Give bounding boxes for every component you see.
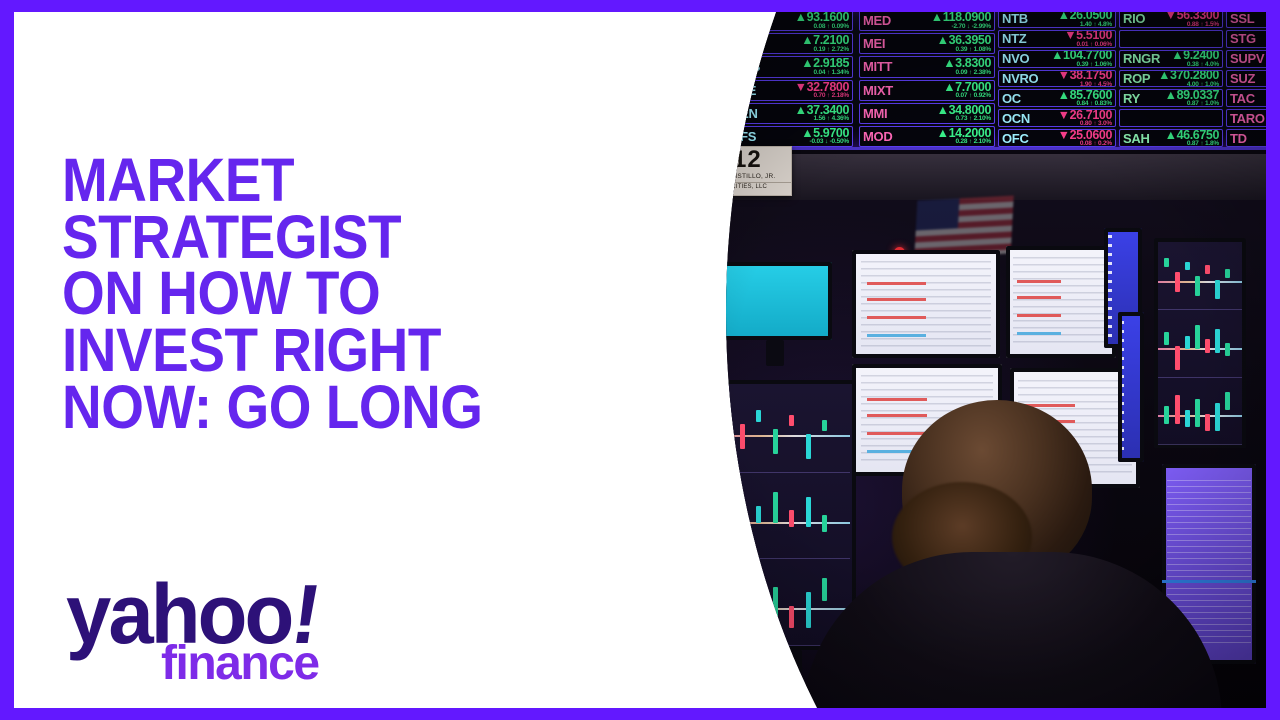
logo-finance-wordmark: finance (161, 640, 319, 688)
candlestick (773, 492, 778, 523)
ticker-price: ▲370.2800 (1158, 70, 1219, 82)
ticker-row: SUPV▼1.8 (1226, 50, 1266, 68)
ticker-symbol: KEN (731, 106, 758, 121)
ticker-column: SSL▲12STG▼4.1SUPV▼1.8SUZ▲9.0TAC▲7.85TARO… (1226, 12, 1266, 147)
ticker-symbol: NVRO (1002, 71, 1038, 86)
ticker-row: MMI▲34.80000.73 ↑ 2.10% (859, 103, 995, 124)
ticker-price-block: ▲46.67500.87 ↑ 1.8% (1165, 129, 1219, 147)
candlestick (822, 578, 827, 601)
candlestick (1185, 410, 1190, 428)
ticker-price-block: ▲7.21000.19 ↑ 2.72% (801, 34, 849, 53)
candlestick (1164, 406, 1169, 424)
chart-pane (712, 477, 850, 559)
ticker-symbol: TD (1230, 131, 1247, 146)
chart-pane (1158, 381, 1243, 445)
placard-number: 1012 (704, 148, 761, 172)
ticker-change: 0.07 ↑ 0.92% (955, 93, 991, 100)
stock-ticker-board: ▲0▲6.61501.91 ↑ 1.67%▼12.78500.68 ↑ 5.23… (606, 12, 1266, 150)
ticker-row: SUZ▲9.0 (1226, 70, 1266, 88)
ticker-row: KEN▲37.34001.56 ↑ 4.36% (727, 103, 853, 124)
ticker-change: 0.88 ↑ 1.5% (1187, 22, 1219, 28)
ticker-row (1119, 30, 1223, 48)
ticker-change: 0.80 ↑ 3.0% (1080, 121, 1112, 127)
monitor-center-right (1006, 246, 1116, 358)
candlestick (1225, 343, 1230, 356)
ceiling-panel (606, 154, 1266, 200)
ticker-price-block: ▲89.03370.87 ↑ 1.0% (1165, 89, 1219, 107)
candlestick (740, 582, 745, 618)
ticker-change: 0.28 ↑ 2.10% (955, 139, 991, 146)
ticker-symbol: NTZ (1002, 31, 1026, 46)
ticker-change: 0.08 ↑ 0.09% (813, 24, 849, 31)
ticker-row: MITT▲3.83000.09 ↑ 2.38% (859, 56, 995, 77)
ticker-change: 1.91 ↑ 1.67% (684, 47, 720, 54)
ticker-row: RNGR▲9.24000.38 ↑ 4.0% (1119, 50, 1223, 68)
candlestick (789, 415, 794, 426)
ticker-price: ▲6.6150 (672, 34, 720, 47)
ticker-row: MOD▲14.20000.28 ↑ 2.10% (859, 126, 995, 147)
ticker-row: NVRO▼38.17501.90 ↑ 4.5% (998, 70, 1116, 88)
ticker-symbol: MED (863, 13, 891, 28)
ticker-row (1119, 109, 1223, 127)
ticker-row: TD▼61.40 (1226, 129, 1266, 147)
video-thumbnail: MARKET STRATEGIST ON HOW TO INVEST RIGHT… (0, 0, 1280, 720)
ticker-price-block: ▼56.33000.88 ↑ 1.5% (1165, 12, 1219, 28)
ticker-price: ▲11.1700 (666, 81, 720, 94)
ticker-row: ▲0 (606, 12, 724, 31)
price-line (712, 522, 850, 524)
candlestick (789, 510, 794, 527)
ticker-price-block: ▲93.16000.08 ↑ 0.09% (795, 12, 849, 30)
ticker-price: ▼5.5100 (1064, 30, 1112, 42)
ticker-price-block: ▲104.77000.39 ↑ 1.06% (1051, 50, 1112, 68)
ticker-symbol: TARO (1230, 111, 1265, 126)
ticker-price: ▲93.1600 (795, 12, 849, 24)
ticker-change: 0.87 ↑ 1.8% (1187, 141, 1219, 147)
ticker-change: 0.38 ↑ 4.0% (1187, 62, 1219, 68)
ticker-row: NVO▲104.77000.39 ↑ 1.06% (998, 50, 1116, 68)
ticker-change: 0.04 ↑ 1.34% (813, 70, 849, 77)
hero-photo: ▲0▲6.61501.91 ↑ 1.67%▼12.78500.68 ↑ 5.23… (606, 12, 1266, 708)
candlestick (1175, 272, 1180, 292)
ticker-row: MIXT▲7.70000.07 ↑ 0.92% (859, 80, 995, 101)
candlestick (1164, 258, 1169, 267)
ticker-price: ▲36.3950 (937, 34, 991, 47)
ticker-change: -0.03 ↓ -0.50% (810, 139, 849, 146)
ticker-price-block: ▲6.61501.91 ↑ 1.67% (672, 34, 720, 53)
ticker-change: 0.87 ↑ 1.0% (1187, 101, 1219, 107)
ticker-row: JOE▼32.78000.70 ↑ 2.18% (727, 80, 853, 101)
ticker-symbol: NTB (1002, 12, 1028, 26)
candlestick (723, 405, 728, 416)
ticker-symbol: OC (1002, 91, 1021, 106)
ticker-row: MB▲76.51002.01 ↑ 2.70% (606, 103, 724, 124)
ticker-symbol: SUPV (1230, 51, 1264, 66)
ticker-price-block: ▲76.51002.01 ↑ 2.70% (666, 104, 720, 123)
monitor-cyan (722, 262, 832, 340)
candlestick (789, 606, 794, 629)
ticker-row: NTB▲26.05001.40 ↑ 4.8% (998, 12, 1116, 28)
ticker-change: 0.39 ↑ 1.06% (1076, 62, 1112, 68)
ticker-symbol: MMI (863, 106, 887, 121)
ticker-column: MED▲118.0900-2.70 ↓ -2.99%MEI▲36.39500.3… (859, 12, 995, 147)
ticker-row: ▲6.61501.91 ↑ 1.67% (606, 33, 724, 54)
ticker-change: 0.08 ↑ 0.2% (1080, 141, 1112, 147)
ticker-column: NTB▲26.05001.40 ↑ 4.8%NTZ▼5.51000.01 ↑ 0… (998, 12, 1116, 147)
ticker-price-block: ▼12.78500.68 ↑ 5.23% (666, 57, 720, 76)
chart-pane (712, 391, 850, 473)
candlestick (806, 434, 811, 459)
candlestick (723, 501, 728, 518)
price-line (712, 608, 850, 610)
ticker-column: RIO▼56.33000.88 ↑ 1.5%RNGR▲9.24000.38 ↑ … (1119, 12, 1223, 147)
ticker-price: ▼12.7850 (666, 57, 720, 70)
ticker-row: NTZ▼5.51000.01 ↑ 0.06% (998, 30, 1116, 48)
candlestick (723, 596, 728, 619)
ticker-symbol: KFS (731, 129, 756, 144)
candlestick (1185, 262, 1190, 271)
candlestick (1215, 403, 1220, 431)
price-line (1158, 281, 1243, 283)
ticker-price-block: ▲3.83000.09 ↑ 2.38% (943, 57, 991, 76)
ticker-symbol: SAH (1123, 131, 1150, 146)
ticker-row: STG▼4.1 (1226, 30, 1266, 48)
ticker-symbol: OFC (1002, 131, 1029, 146)
ticker-row: ROP▲370.28004.00 ↑ 1.0% (1119, 70, 1223, 88)
ticker-row: INN▲7.21000.19 ↑ 2.72% (727, 33, 853, 54)
monitor-stand (766, 340, 784, 366)
ticker-price: ▲0 (701, 14, 720, 27)
ticker-price-block: ▲34.80000.73 ↑ 2.10% (937, 104, 991, 123)
ticker-symbol: ROP (1123, 71, 1150, 86)
ticker-change: 4.00 ↑ 1.0% (1187, 82, 1219, 88)
monitor-center-top (852, 250, 1000, 358)
ticker-price-block: ▲2.91850.04 ↑ 1.34% (801, 57, 849, 76)
ticker-price: ▲118.0900 (931, 12, 991, 24)
ticker-change: 1.40 ↑ 4.8% (1080, 22, 1112, 28)
ticker-symbol: SUZ (1230, 71, 1255, 86)
monitor-candlestick-charts (706, 380, 856, 650)
ticker-symbol: MEI (863, 36, 885, 51)
ticker-symbol: MOD (863, 129, 892, 144)
ticker-row: OCN▼26.71000.80 ↑ 3.0% (998, 109, 1116, 127)
ticker-price: ▲9.2400 (1171, 50, 1219, 62)
ticker-row: SAH▲46.67500.87 ↑ 1.8% (1119, 129, 1223, 147)
ticker-row: RIO▼56.33000.88 ↑ 1.5% (1119, 12, 1223, 28)
ticker-symbol: RNGR (1123, 51, 1160, 66)
monitor-stand-large (756, 650, 802, 672)
candlestick (756, 410, 761, 421)
candlestick (1205, 265, 1210, 274)
candlestick (1195, 399, 1200, 427)
ticker-symbol: SSL (1230, 12, 1254, 26)
ticker-change: 0.73 ↑ 2.10% (955, 116, 991, 123)
candlestick (1175, 395, 1180, 423)
candlestick (756, 601, 761, 624)
candlestick (1175, 346, 1180, 370)
ticker-change: 0.09 ↑ 2.38% (955, 70, 991, 77)
ticker-price: ▲76.5100 (666, 104, 720, 117)
ticker-row: OFC▼25.06000.08 ↑ 0.2% (998, 129, 1116, 147)
ticker-row: KFS▲5.9700-0.03 ↓ -0.50% (727, 126, 853, 147)
page-title: MARKET STRATEGIST ON HOW TO INVEST RIGHT… (62, 152, 566, 436)
ticker-change: 0.84 ↑ 0.83% (1076, 101, 1112, 107)
candlestick (773, 429, 778, 454)
ticker-row: ▼12.78500.68 ↑ 5.23% (606, 56, 724, 77)
ticker-price-block: ▲370.28004.00 ↑ 1.0% (1158, 70, 1219, 88)
ticker-price-block: ▲14.20000.28 ↑ 2.10% (937, 127, 991, 146)
ticker-symbol: OCN (1002, 111, 1030, 126)
ticker-row: GOTU▼1.0850-0.04 ↓ -3.13% (606, 126, 724, 147)
candlestick (822, 420, 827, 431)
placard-company: GTS SECURITIES, LLC (675, 182, 791, 190)
ticker-symbol: MIXT (863, 83, 893, 98)
ticker-price-block: ▲7.70000.07 ↑ 0.92% (943, 81, 991, 100)
ticker-change: 0.27 ↑ 2.46% (684, 93, 720, 100)
ticker-change: 0.39 ↑ 1.08% (955, 47, 991, 54)
ticker-price-block: ▲85.76000.84 ↑ 0.83% (1058, 89, 1112, 107)
ticker-column: IIPR▲93.16000.08 ↑ 0.09%INN▲7.21000.19 ↑… (727, 12, 853, 147)
ticker-symbol: MITT (863, 59, 892, 74)
ticker-change: -0.04 ↓ -3.13% (681, 139, 720, 146)
ticker-price-block: ▲0 (701, 14, 720, 27)
ticker-row: K▲11.17000.27 ↑ 2.46% (606, 80, 724, 101)
ticker-row: MED▲118.0900-2.70 ↓ -2.99% (859, 12, 995, 31)
candlestick (756, 506, 761, 523)
candlestick (773, 587, 778, 623)
monitor-right-charts (1154, 238, 1246, 448)
ticker-symbol: JOE (731, 83, 756, 98)
ticker-price: ▲7.2100 (801, 34, 849, 47)
ticker-price-block: ▲11.17000.27 ↑ 2.46% (666, 81, 720, 100)
candlestick (1215, 329, 1220, 353)
ticker-change: 0.01 ↑ 0.06% (1076, 42, 1112, 48)
ticker-row: ITCB▲2.91850.04 ↑ 1.34% (727, 56, 853, 77)
ticker-symbol: ITCB (731, 59, 760, 74)
ticker-row: OC▲85.76000.84 ↑ 0.83% (998, 89, 1116, 107)
ticker-symbol: MB (606, 106, 616, 121)
monitor-far-left (612, 264, 704, 338)
ticker-price-block: ▲118.0900-2.70 ↓ -2.99% (931, 12, 991, 30)
ticker-change: 1.56 ↑ 4.36% (813, 116, 849, 123)
ticker-row: TARO▲31.60 (1226, 109, 1266, 127)
trading-post-placard: 1012 MICHAEL A. PISTILLO, JR. GTS SECURI… (674, 146, 792, 196)
ticker-price: ▼1.0850 (672, 127, 720, 140)
ticker-change: 2.01 ↑ 2.70% (684, 116, 720, 123)
candlestick (740, 519, 745, 550)
candlestick (806, 497, 811, 528)
ticker-price-block: ▼38.17501.90 ↑ 4.5% (1058, 70, 1112, 88)
candlestick (740, 424, 745, 449)
ticker-price: ▼38.1750 (1058, 70, 1112, 82)
candlestick (1225, 392, 1230, 410)
hero-photo-container: ▲0▲6.61501.91 ↑ 1.67%▼12.78500.68 ↑ 5.23… (606, 12, 1266, 708)
monitor-blue-side (1118, 312, 1144, 462)
ticker-price-block: ▼25.06000.08 ↑ 0.2% (1058, 129, 1112, 147)
placard-name: MICHAEL A. PISTILLO, JR. (691, 173, 776, 180)
candlestick (1164, 332, 1169, 345)
ticker-row: IIPR▲93.16000.08 ↑ 0.09% (727, 12, 853, 31)
ticker-price-block: ▲9.24000.38 ↑ 4.0% (1171, 50, 1219, 68)
candlestick (822, 515, 827, 532)
ticker-change: 0.68 ↑ 5.23% (684, 70, 720, 77)
ticker-change: 1.90 ↑ 4.5% (1080, 82, 1112, 88)
ticker-row: SSL▲12 (1226, 12, 1266, 28)
yahoo-finance-logo: yahoo! finance (66, 572, 356, 692)
candlestick (1195, 325, 1200, 349)
ticker-symbol: RIO (1123, 12, 1145, 26)
ticker-price-block: ▲5.9700-0.03 ↓ -0.50% (801, 127, 849, 146)
ticker-price-block: ▼26.71000.80 ↑ 3.0% (1058, 109, 1112, 127)
ticker-symbol: NVO (1002, 51, 1029, 66)
candlestick (1215, 280, 1220, 300)
ticker-price-block: ▲36.39500.39 ↑ 1.08% (937, 34, 991, 53)
candlestick (1195, 276, 1200, 296)
ticker-price-block: ▲37.34001.56 ↑ 4.36% (795, 104, 849, 123)
ticker-price-block: ▲26.05001.40 ↑ 4.8% (1058, 12, 1112, 28)
ticker-column: ▲0▲6.61501.91 ↑ 1.67%▼12.78500.68 ↑ 5.23… (606, 12, 724, 147)
ticker-price-block: ▼1.0850-0.04 ↓ -3.13% (672, 127, 720, 146)
candlestick (1185, 336, 1190, 349)
ticker-change: 0.70 ↑ 2.18% (813, 93, 849, 100)
ticker-change: -2.70 ↓ -2.99% (952, 24, 991, 31)
ticker-row: TAC▲7.85 (1226, 89, 1266, 107)
ticker-symbol: GOTU (606, 129, 632, 144)
chart-pane (1158, 314, 1243, 378)
ticker-symbol: STG (1230, 31, 1256, 46)
ticker-row: MEI▲36.39500.39 ↑ 1.08% (859, 33, 995, 54)
candlestick (1205, 339, 1210, 352)
ticker-price-block: ▼32.78000.70 ↑ 2.18% (795, 81, 849, 100)
ticker-change: 0.19 ↑ 2.72% (813, 47, 849, 54)
price-line (712, 435, 850, 437)
thumbnail-card: MARKET STRATEGIST ON HOW TO INVEST RIGHT… (14, 12, 1266, 708)
ticker-symbol: INN (731, 36, 753, 51)
candlestick (806, 592, 811, 628)
candlestick (1205, 414, 1210, 432)
ticker-symbol: TAC (1230, 91, 1255, 106)
water-bottle (754, 640, 784, 702)
ticker-row: RY▲89.03370.87 ↑ 1.0% (1119, 89, 1223, 107)
candlestick (1225, 269, 1230, 278)
ticker-price: ▲104.7700 (1051, 50, 1112, 62)
ticker-price-block: ▼5.51000.01 ↑ 0.06% (1064, 30, 1112, 48)
ticker-symbol: RY (1123, 91, 1140, 106)
ticker-symbol: IIPR (731, 13, 755, 28)
price-line (1158, 415, 1243, 417)
chart-pane (1158, 246, 1243, 310)
